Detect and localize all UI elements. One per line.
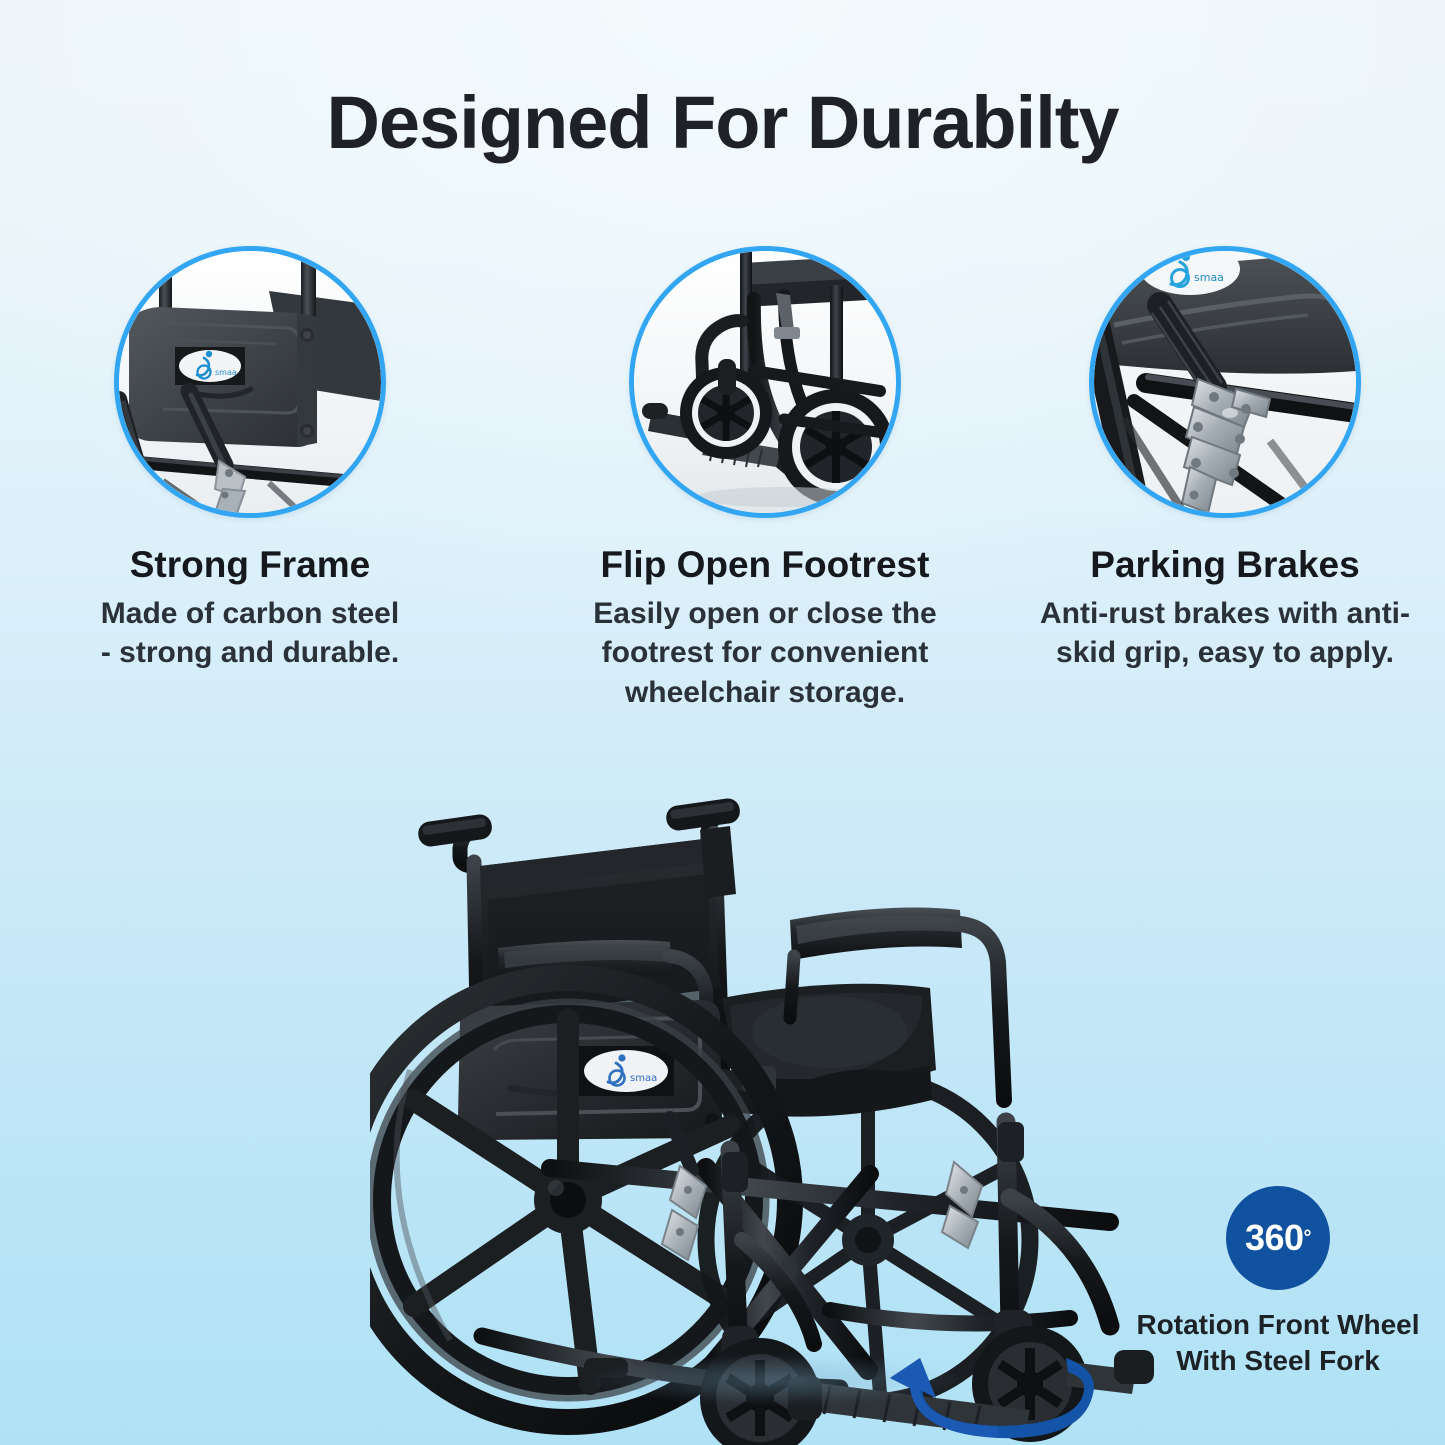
feature-list: smaa (0, 246, 1445, 746)
feature-description: Anti-rust brakes with anti-skid grip, ea… (990, 594, 1445, 673)
feature-title: Parking Brakes (990, 546, 1445, 585)
strong-frame-illustration: smaa (119, 251, 381, 513)
parking-brakes-illustration: smaa (1094, 251, 1356, 513)
page-title: Designed For Durabilty (0, 86, 1445, 160)
svg-text:smaa: smaa (630, 1073, 657, 1084)
feature-item-strong-frame: smaa (15, 246, 485, 673)
badge-360-circle: 360° (1226, 1186, 1330, 1290)
svg-text:smaa: smaa (215, 368, 237, 377)
infographic-canvas: Designed For Durabilty (0, 0, 1445, 1445)
feature-title: Flip Open Footrest (530, 546, 1000, 585)
rotation-badge: 360° Rotation Front Wheel With Steel For… (1128, 1186, 1428, 1379)
feature-description: Easily open or close the footrest for co… (530, 594, 1000, 713)
rotation-arrow-icon (880, 1330, 1130, 1445)
svg-text:smaa: smaa (1194, 271, 1224, 284)
rotation-arrow (880, 1330, 1130, 1445)
feature-image-flip-open-footrest (629, 246, 901, 518)
feature-item-flip-open-footrest: Flip Open Footrest Easily open or close … (530, 246, 1000, 713)
feature-image-parking-brakes: smaa (1089, 246, 1361, 518)
flip-open-footrest-illustration (634, 251, 896, 513)
badge-caption: Rotation Front Wheel With Steel Fork (1128, 1307, 1428, 1379)
feature-title: Strong Frame (15, 546, 485, 585)
feature-item-parking-brakes: smaa (990, 246, 1445, 673)
feature-description: Made of carbon steel - strong and durabl… (15, 594, 485, 673)
badge-value: 360 (1245, 1217, 1304, 1259)
feature-image-strong-frame: smaa (114, 246, 386, 518)
